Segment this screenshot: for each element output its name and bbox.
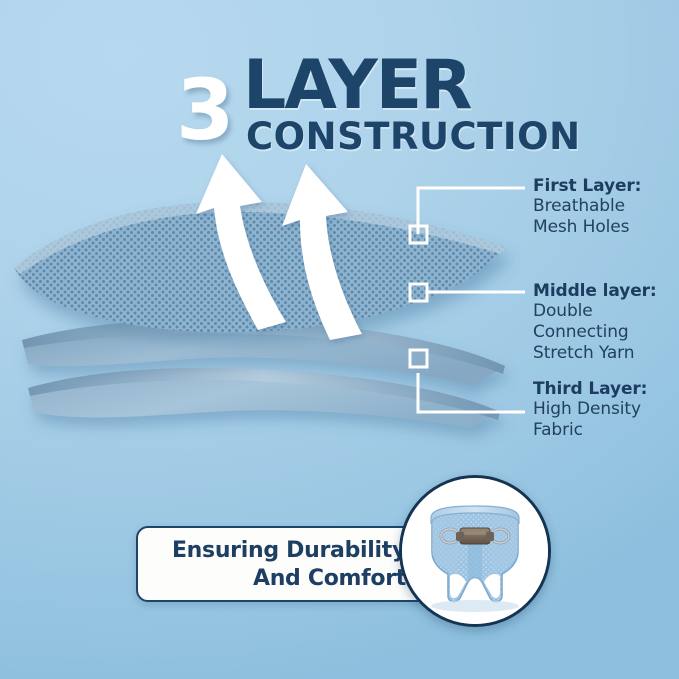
layer-desc-first-line2: Mesh Holes — [533, 217, 641, 238]
layer-desc-middle-line1: Double — [533, 301, 657, 322]
layer-desc-middle-line3: Stretch Yarn — [533, 343, 657, 364]
layer-title-middle: Middle layer: — [533, 281, 657, 301]
callout-line2: And Comfort — [138, 565, 406, 593]
callout-box: Ensuring Durability And Comfort — [136, 526, 430, 602]
third-fabric-layer — [28, 368, 500, 428]
layer-desc-middle-line2: Connecting — [533, 322, 657, 343]
layer-label-third: Third Layer: High Density Fabric — [533, 379, 647, 441]
layer-label-first: First Layer: Breathable Mesh Holes — [533, 176, 641, 238]
layer-label-middle: Middle layer: Double Connecting Stretch … — [533, 281, 657, 364]
layer-desc-third-line1: High Density — [533, 399, 647, 420]
dog-harness-photo — [402, 478, 548, 624]
layer-title-first: First Layer: — [533, 176, 641, 196]
layer-desc-third-line2: Fabric — [533, 420, 647, 441]
title-number: 3 — [176, 74, 231, 146]
page-title: 3 LAYER CONSTRUCTION — [0, 38, 679, 143]
layer-desc-first-line1: Breathable — [533, 196, 641, 217]
layer-title-third: Third Layer: — [533, 379, 647, 399]
product-photo-badge — [399, 475, 551, 627]
title-subtitle-construction: CONSTRUCTION — [246, 118, 581, 155]
fabric-layer-stack-illustration — [0, 150, 520, 480]
infographic-canvas: 3 LAYER CONSTRUCTION First Layer: Breath… — [0, 0, 679, 679]
title-word-layer: LAYER — [243, 52, 471, 120]
callout-line1: Ensuring Durability — [138, 537, 406, 565]
